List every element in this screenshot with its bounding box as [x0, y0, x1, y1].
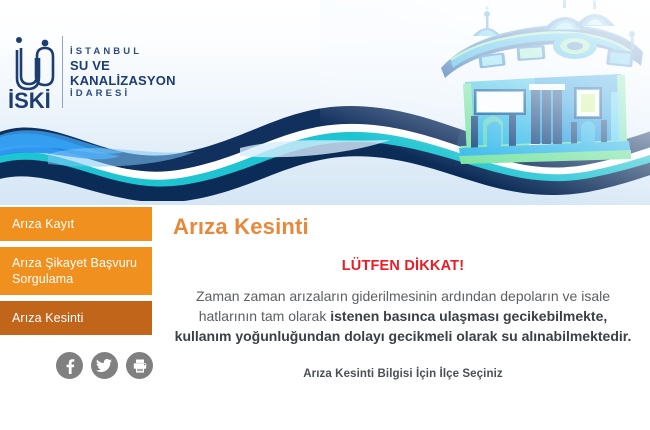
svg-text:İSKİ: İSKİ [8, 88, 51, 112]
sidebar-item-ariza-sikayet-basvuru-sorgulama[interactable]: Arıza Şikayet Başvuru Sorgulama [0, 247, 152, 295]
iski-logo[interactable]: İSKİ İSTANBUL SU VE KANALİZASYON İDARESİ [8, 34, 208, 112]
social-share-bar [56, 352, 153, 379]
main-content: Arıza Kesinti LÜTFEN DİKKAT! Zaman zaman… [168, 207, 638, 380]
site-header: İSKİ İSTANBUL SU VE KANALİZASYON İDARESİ [0, 0, 650, 205]
logo-divider [62, 36, 63, 108]
iski-loop-logo-icon: İSKİ [8, 34, 60, 112]
logo-line-idaresi: İDARESİ [70, 88, 208, 100]
notice-paragraph: Zaman zaman arızaların giderilmesinin ar… [174, 286, 632, 346]
twitter-icon[interactable] [91, 352, 118, 379]
district-select-prompt: Arıza Kesinti Bilgisi İçin İlçe Seçiniz [168, 368, 638, 380]
iski-ariza-kesinti-page: İSKİ İSTANBUL SU VE KANALİZASYON İDARESİ… [0, 0, 650, 430]
print-icon[interactable] [126, 352, 153, 379]
sidebar-item-ariza-kayit[interactable]: Arıza Kayıt [0, 207, 152, 241]
facebook-icon[interactable] [56, 352, 83, 379]
ottoman-sebil-fountain-illustration [425, 0, 650, 201]
logo-line-su-ve-kanalizasyon: SU VE KANALİZASYON [70, 58, 208, 88]
page-title: Arıza Kesinti [173, 214, 638, 240]
logo-wordmark-text: İSTANBUL SU VE KANALİZASYON İDARESİ [70, 46, 208, 100]
sidebar-nav: Arıza Kayıt Arıza Şikayet Başvuru Sorgul… [0, 207, 152, 341]
logo-line-istanbul: İSTANBUL [70, 46, 208, 58]
sidebar-item-ariza-kesinti[interactable]: Arıza Kesinti [0, 301, 152, 335]
attention-notice: LÜTFEN DİKKAT! [168, 258, 638, 274]
